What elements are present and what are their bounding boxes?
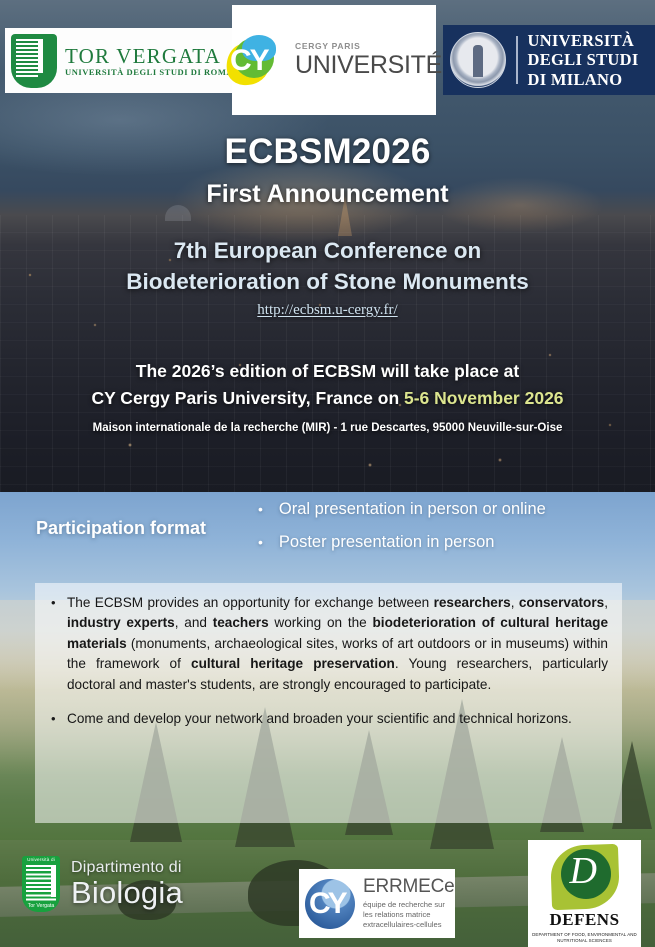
errmece-cy-mark-icon: CY	[303, 875, 361, 933]
participation-format-list: • Oral presentation in person or online …	[258, 500, 546, 566]
logo-defens: D DEFENS DEPARTMENT OF FOOD, ENVIRONMENT…	[528, 840, 641, 947]
event-host-university: CY Cergy Paris University	[91, 388, 305, 408]
defens-name: DEFENS	[549, 910, 619, 930]
conference-name-line-1: 7th European Conference on	[0, 235, 655, 266]
milano-seal-icon	[450, 32, 506, 88]
conference-poster: TOR VERGATA UNIVERSITÀ DEGLI STUDI DI RO…	[0, 0, 655, 947]
bullet-icon: •	[45, 709, 67, 729]
tor-vergata-shield-icon	[11, 34, 57, 88]
cy-small-label: CERGY PARIS	[295, 42, 442, 51]
event-intro-line: The 2026’s edition of ECBSM will take pl…	[0, 358, 655, 385]
title-block: ECBSM2026 First Announcement 7th Europea…	[0, 132, 655, 319]
participation-format-label: Participation format	[36, 518, 206, 539]
sponsor-logo-band: TOR VERGATA UNIVERSITÀ DEGLI STUDI DI RO…	[0, 0, 655, 120]
event-code-title: ECBSM2026	[0, 132, 655, 172]
participation-option-label: Poster presentation in person	[279, 533, 495, 552]
conference-website-link[interactable]: http://ecbsm.u-cergy.fr/	[257, 302, 397, 319]
cy-mark-letters: CY	[230, 45, 274, 77]
bullet-icon: •	[45, 593, 67, 613]
tor-vergata-name: TOR VERGATA	[65, 45, 233, 67]
event-venue-address: Maison internationale de la recherche (M…	[0, 422, 655, 434]
announcement-subtitle: First Announcement	[0, 180, 655, 209]
milano-divider	[516, 36, 518, 84]
description-paragraph: Come and develop your network and broade…	[67, 709, 608, 729]
errmece-subtitle: équipe de recherche sur les relations ma…	[363, 900, 455, 930]
tor-vergata-biologia-shield-icon: Università di Roma Tor Vergata	[22, 856, 60, 912]
milano-line-1: UNIVERSITÀ	[528, 31, 639, 50]
errmece-mark-letters: CY	[309, 887, 355, 921]
defens-leaf-icon: D	[548, 843, 622, 911]
milano-line-3: DI MILANO	[528, 70, 639, 89]
conference-name-line-2: Biodeterioration of Stone Monuments	[0, 266, 655, 297]
event-country-text: , France on	[306, 388, 404, 408]
participation-option-label: Oral presentation in person or online	[279, 500, 546, 519]
cy-mark-icon: CY	[226, 35, 280, 85]
event-location-line: CY Cergy Paris University, France on 5-6…	[0, 385, 655, 412]
logo-errmece: CY ERRMECe équipe de recherche sur les r…	[299, 869, 455, 938]
event-dates: 5-6 November 2026	[404, 388, 564, 408]
bullet-icon: •	[258, 500, 263, 519]
description-panel: • The ECBSM provides an opportunity for …	[35, 583, 622, 823]
list-item: • Oral presentation in person or online	[258, 500, 546, 519]
tor-vergata-subtitle: UNIVERSITÀ DEGLI STUDI DI ROMA	[65, 68, 233, 77]
logo-tor-vergata: TOR VERGATA UNIVERSITÀ DEGLI STUDI DI RO…	[5, 28, 235, 93]
errmece-title: ERRMECe	[363, 877, 455, 897]
biologia-name: Biologia	[71, 877, 183, 908]
list-item: • Poster presentation in person	[258, 533, 546, 552]
event-details-block: The 2026’s edition of ECBSM will take pl…	[0, 358, 655, 434]
list-item: • Come and develop your network and broa…	[45, 709, 608, 729]
biologia-department-label: Dipartimento di	[71, 860, 183, 876]
list-item: • The ECBSM provides an opportunity for …	[45, 593, 608, 695]
cy-big-label: UNIVERSITÉ	[295, 53, 442, 78]
defens-mark-letter: D	[570, 851, 604, 891]
logo-dipartimento-biologia: Università di Roma Tor Vergata Dipartime…	[22, 856, 183, 912]
biologia-shield-top-text: Università di Roma	[22, 856, 60, 864]
bullet-icon: •	[258, 533, 263, 552]
logo-universita-milano: UNIVERSITÀ DEGLI STUDI DI MILANO	[443, 25, 655, 95]
description-paragraph: The ECBSM provides an opportunity for ex…	[67, 593, 608, 695]
defens-tagline: DEPARTMENT OF FOOD, ENVIRONMENTAL AND NU…	[532, 932, 637, 944]
conference-full-name: 7th European Conference on Biodeteriorat…	[0, 235, 655, 297]
milano-line-2: DEGLI STUDI	[528, 50, 639, 69]
logo-cy-cergy-paris: CY CERGY PARIS UNIVERSITÉ	[232, 5, 436, 115]
biologia-shield-bottom-text: Tor Vergata	[22, 902, 60, 910]
participation-format-block: Participation format • Oral presentation…	[0, 500, 655, 580]
